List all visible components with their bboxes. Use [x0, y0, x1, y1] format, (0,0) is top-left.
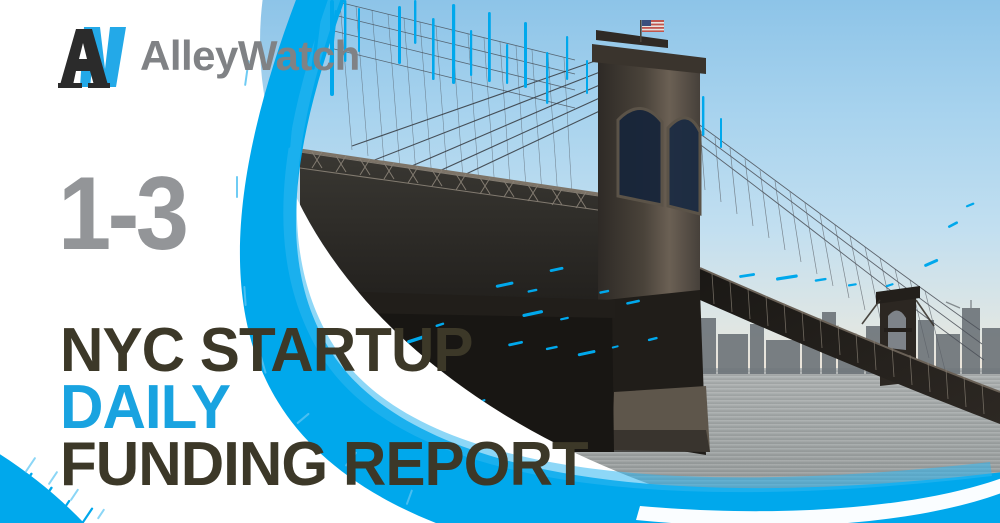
alleywatch-wordmark: AlleyWatch	[140, 35, 360, 77]
poster-headline: NYC STARTUP DAILY FUNDING REPORT	[60, 322, 604, 493]
aw-monogram-icon	[58, 21, 136, 91]
issue-number: 1-3	[58, 162, 185, 266]
headline-line-nyc-startup: NYC STARTUP	[60, 322, 588, 379]
funding-report-poster: AlleyWatch 1-3 NYC STARTUP DAILY FUNDING…	[0, 0, 1000, 523]
alleywatch-logo[interactable]: AlleyWatch	[58, 18, 360, 94]
headline-line-daily: DAILY	[60, 379, 588, 436]
headline-line-funding-report: FUNDING REPORT	[60, 436, 588, 493]
